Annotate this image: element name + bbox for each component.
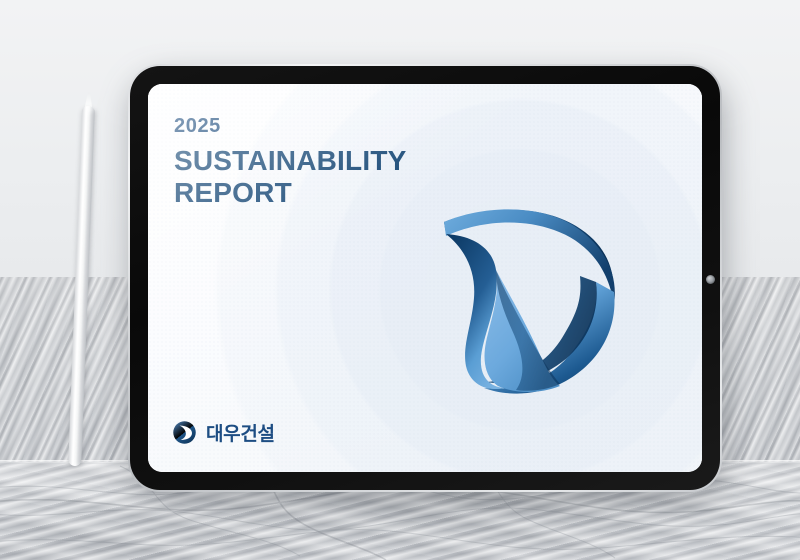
tablet-screen[interactable]: 2025 SUSTAINABILITY REPORT [148, 84, 702, 472]
screen-glare [148, 84, 702, 472]
front-camera-icon [706, 275, 715, 284]
scene-root: 2025 SUSTAINABILITY REPORT [0, 0, 800, 560]
